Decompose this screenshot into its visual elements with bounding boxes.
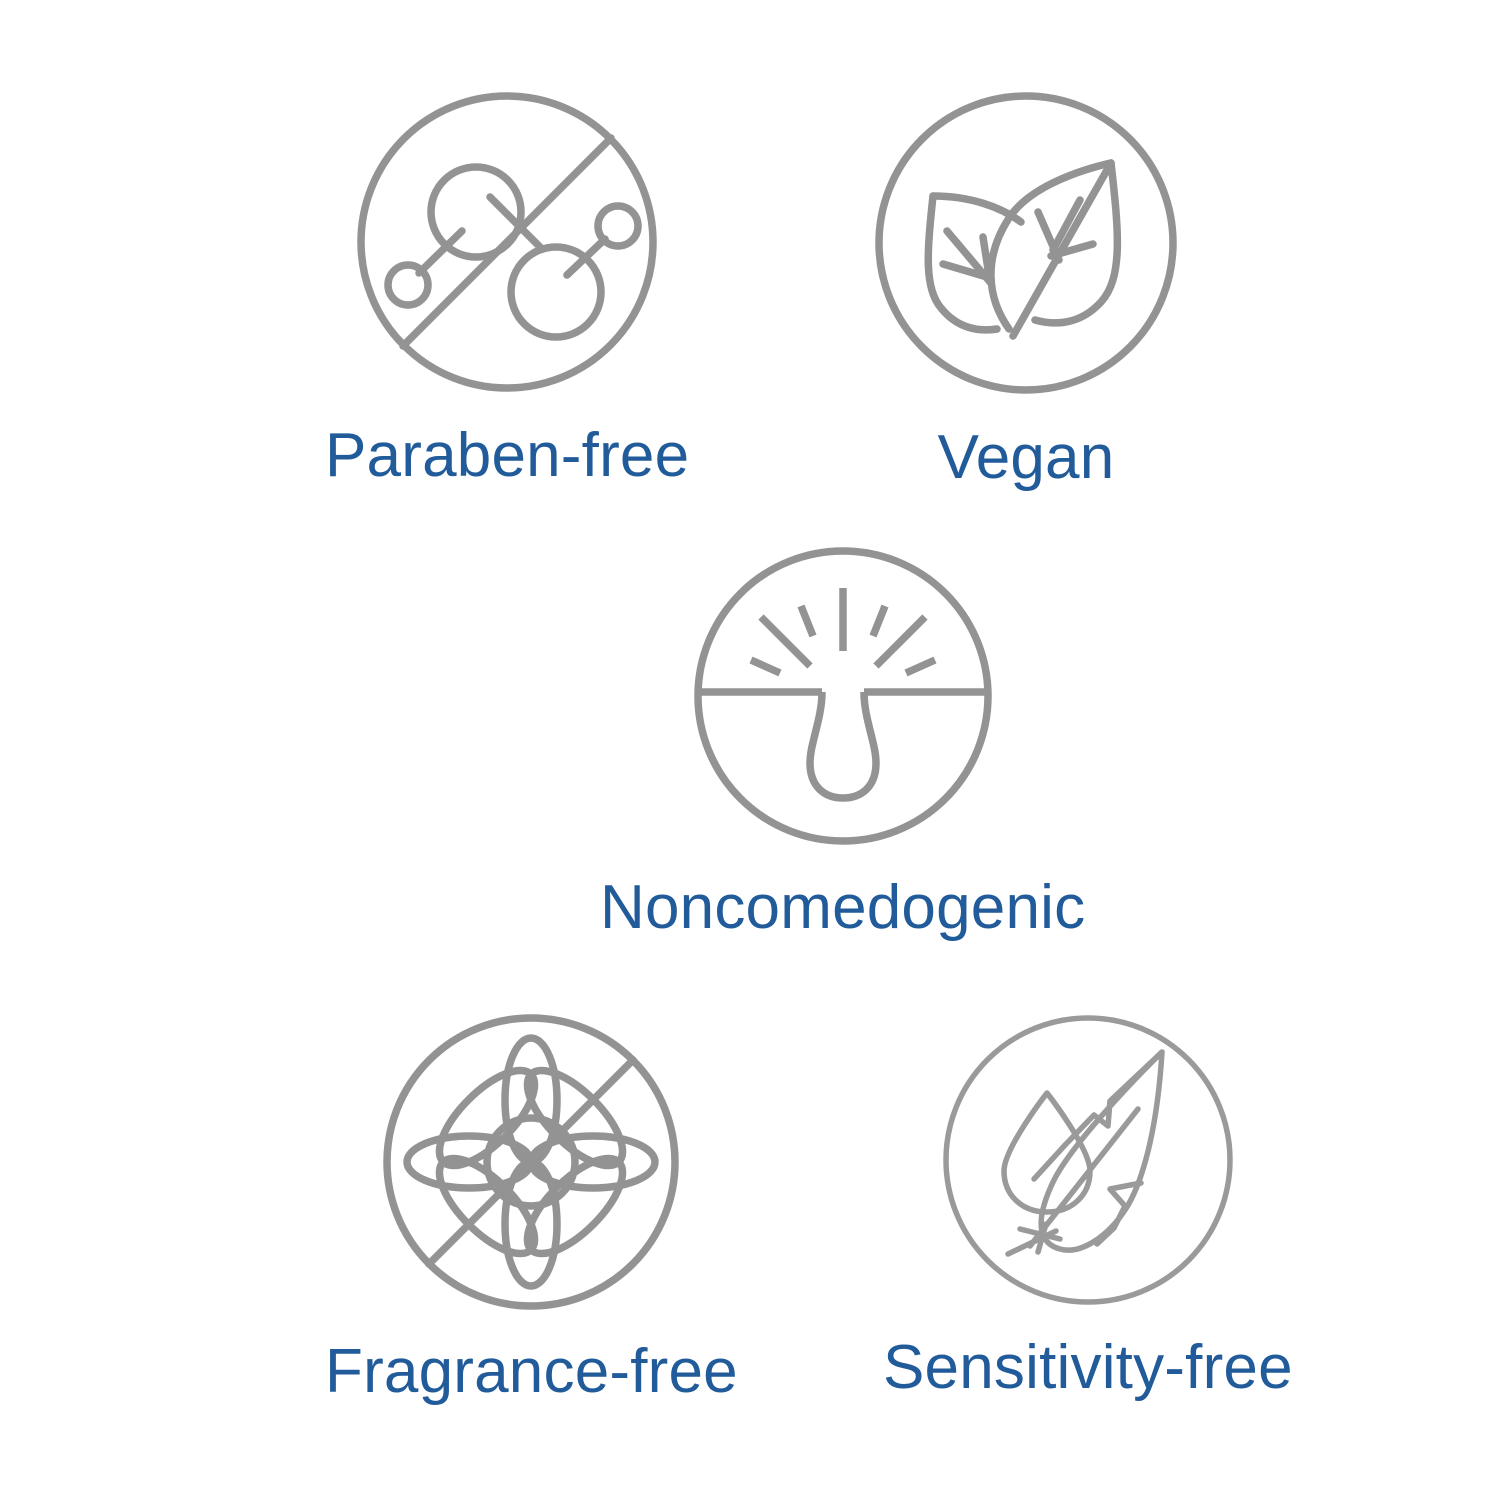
badge-noncomedogenic-label: Noncomedogenic [600,877,1085,939]
no-flower-icon [383,1014,679,1315]
no-paraben-molecule-icon [357,92,657,397]
two-leaves-icon [875,92,1177,399]
badge-vegan: Vegan [875,92,1177,489]
badge-sensitivity-free: Sensitivity-free [883,1014,1293,1399]
badge-noncomedogenic: Noncomedogenic [600,547,1085,939]
badge-fragrance-free-label: Fragrance-free [325,1341,738,1403]
feather-droplet-icon [942,1014,1234,1311]
badge-vegan-label: Vegan [938,427,1115,489]
badge-paraben-free: Paraben-free [325,92,689,487]
badge-fragrance-free: Fragrance-free [325,1014,738,1403]
badge-sensitivity-free-label: Sensitivity-free [883,1337,1293,1399]
badge-paraben-free-label: Paraben-free [325,425,689,487]
badge-grid-page: Paraben-free [0,0,1500,1500]
open-pore-icon [694,547,992,850]
